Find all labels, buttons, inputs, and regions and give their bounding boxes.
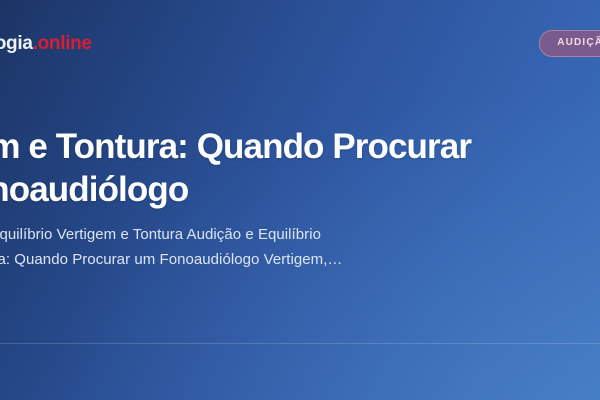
hero-section: rtigem e Tontura: Quando Procurar n Fono… [0, 126, 600, 272]
footer-divider [0, 343, 600, 344]
page-subtitle: Audição e Equilíbrio Vertigem e Tontura … [0, 223, 600, 272]
page-subtitle-line-2: em e Tontura: Quando Procurar um Fonoaud… [0, 248, 600, 272]
page-title-line-2: n Fonoaudiólogo [0, 169, 600, 212]
category-badge-label: AUDIÇÃO E EQUIL [557, 38, 600, 48]
card-header: noaudiologia.online AUDIÇÃO E EQUIL [0, 26, 600, 60]
page-title-line-1: rtigem e Tontura: Quando Procurar [0, 126, 600, 169]
site-logo[interactable]: noaudiologia.online [0, 34, 92, 53]
page-subtitle-line-1: Audição e Equilíbrio Vertigem e Tontura … [0, 223, 600, 247]
share-card: noaudiologia.online AUDIÇÃO E EQUIL rtig… [0, 0, 600, 400]
page-title: rtigem e Tontura: Quando Procurar n Fono… [0, 126, 600, 211]
card-footer: iologia.online [0, 350, 600, 368]
site-logo-name: noaudiologia [0, 33, 33, 54]
site-logo-tld: .online [33, 33, 92, 54]
category-badge[interactable]: AUDIÇÃO E EQUIL [539, 30, 600, 57]
